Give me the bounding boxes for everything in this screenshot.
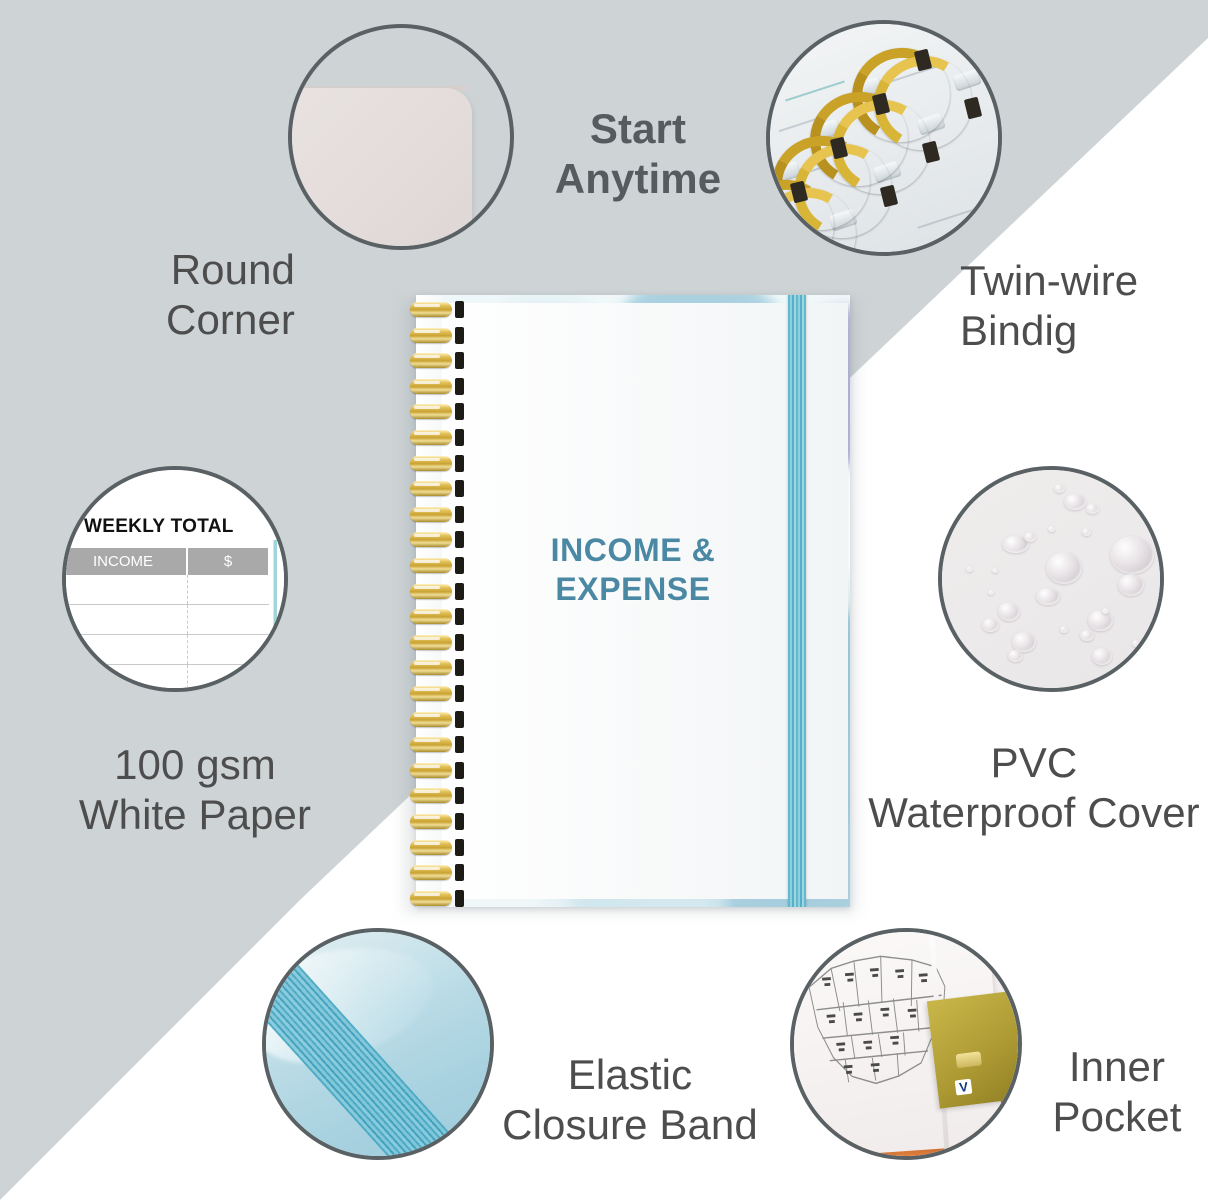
table-header-row: INCOME $	[62, 548, 270, 575]
wire-coil-ring	[406, 429, 462, 449]
table-row	[62, 575, 270, 605]
elastic-closure-band-on-cover	[788, 295, 806, 907]
table-row	[62, 665, 270, 692]
wire-coil-ring	[406, 762, 462, 782]
feature-label-paper-weight: 100 gsm White Paper	[40, 740, 350, 839]
feature-circle-inner-pocket: V	[790, 928, 1022, 1160]
wire-coil-ring	[406, 583, 462, 603]
wire-coil-ring	[406, 301, 462, 321]
page-edge-accent	[269, 540, 280, 660]
wire-coil-ring	[406, 634, 462, 654]
elastic-band-icon	[266, 932, 490, 1156]
inner-pocket-page-icon: V	[794, 932, 1018, 1156]
feature-circle-round-corner	[288, 24, 514, 250]
feature-circle-pvc-waterproof	[938, 466, 1164, 692]
wire-coil-ring	[406, 327, 462, 347]
wire-coil-ring	[406, 736, 462, 756]
wire-coil-ring	[406, 531, 462, 551]
wire-coil-ring	[406, 378, 462, 398]
wire-coil-ring	[406, 506, 462, 526]
wire-coil-ring	[406, 864, 462, 884]
feature-circle-paper-weight: WEEKLY TOTAL INCOME $	[62, 466, 288, 692]
feature-label-round-corner: Round Corner	[20, 245, 295, 344]
wire-coil-ring	[406, 890, 462, 910]
table-row	[62, 605, 270, 635]
wire-coil-ring	[406, 659, 462, 679]
feature-label-start-anytime: Start Anytime	[512, 104, 764, 203]
feature-label-twin-wire-binding: Twin-wire Bindig	[960, 256, 1208, 355]
product-title: INCOME & EXPENSE	[416, 531, 850, 609]
feature-label-inner-pocket: Inner Pocket	[1026, 1042, 1208, 1141]
wire-coil-ring	[406, 455, 462, 475]
table-row	[62, 635, 270, 665]
wire-coil-ring	[406, 787, 462, 807]
card-brand-mark: V	[954, 1078, 972, 1095]
weekly-total-table-icon: WEEKLY TOTAL INCOME $	[66, 470, 284, 688]
feature-label-pvc-waterproof: PVC Waterproof Cover	[860, 738, 1208, 837]
wire-coil-ring	[406, 608, 462, 628]
wire-coil-ring	[406, 839, 462, 859]
feature-circle-twin-wire-binding	[766, 20, 1002, 256]
twin-wire-coil-icon	[770, 24, 998, 252]
water-droplets-icon	[942, 470, 1160, 688]
wire-coil-ring	[406, 813, 462, 833]
wire-coil-ring	[406, 403, 462, 423]
feature-label-elastic-band: Elastic Closure Band	[500, 1050, 760, 1149]
card-in-pocket: V	[927, 989, 1022, 1108]
wire-coil-ring	[406, 557, 462, 577]
column-header-income: INCOME	[62, 548, 188, 575]
wire-coil-ring	[406, 480, 462, 500]
weekly-total-title: WEEKLY TOTAL	[84, 516, 234, 538]
wire-coil-ring	[406, 711, 462, 731]
column-header-amount: $	[188, 548, 270, 575]
product-notebook: INCOME & EXPENSE	[398, 295, 850, 907]
wire-coil-ring	[406, 352, 462, 372]
infographic-canvas: Round Corner Start Anytime	[0, 0, 1208, 1200]
feature-circle-elastic-band	[262, 928, 494, 1160]
weekly-total-table: INCOME $	[62, 548, 270, 692]
wire-coil-ring	[406, 685, 462, 705]
rounded-corner-sheet-icon	[292, 28, 510, 246]
